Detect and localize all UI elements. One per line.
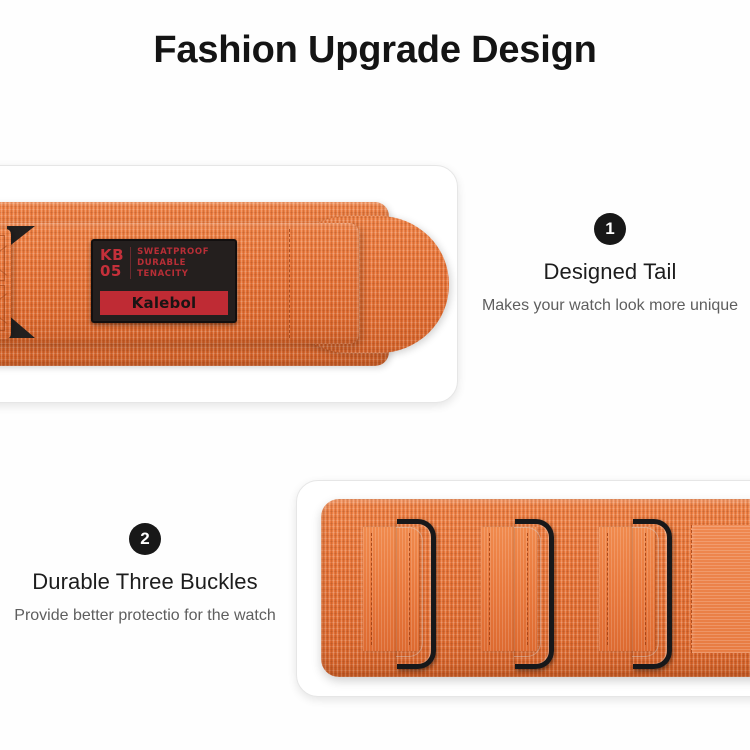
product-brand-label: KB 05 SWEATPROOF DURABLE TENACITY Kalebo… bbox=[91, 239, 237, 323]
label-claim-sweatproof: SWEATPROOF bbox=[137, 247, 209, 258]
label-feature-claims: SWEATPROOF DURABLE TENACITY bbox=[131, 247, 209, 280]
keeper-x-stitch bbox=[0, 293, 7, 329]
label-model-code-line-1: KB bbox=[100, 247, 124, 263]
label-claim-durable: DURABLE bbox=[137, 258, 209, 269]
pad-stitching bbox=[371, 533, 372, 645]
feature-image-card-designed-tail: KB 05 SWEATPROOF DURABLE TENACITY Kalebo… bbox=[0, 165, 458, 403]
keeper-x-stitch bbox=[0, 245, 7, 281]
label-claim-tenacity: TENACITY bbox=[137, 269, 209, 280]
label-top-row: KB 05 SWEATPROOF DURABLE TENACITY bbox=[93, 241, 235, 293]
feature-title-1: Designed Tail bbox=[470, 259, 750, 285]
strap-keeper-loop bbox=[0, 229, 11, 339]
feature-description-2: Provide better protectio for the watch bbox=[0, 604, 290, 627]
metal-buckle-loop-3 bbox=[633, 519, 672, 669]
label-model-code: KB 05 bbox=[100, 247, 131, 279]
metal-buckle-loop-2 bbox=[515, 519, 554, 669]
pad-stitching bbox=[607, 533, 608, 645]
pad-stitching bbox=[489, 533, 490, 645]
strap-velcro-panel bbox=[691, 525, 750, 653]
feature-image-card-three-buckles bbox=[296, 480, 750, 697]
brand-name-text: Kalebol bbox=[132, 294, 197, 312]
metal-buckle-loop-1 bbox=[397, 519, 436, 669]
label-brand-plate: Kalebol bbox=[100, 291, 228, 315]
feature-title-2: Durable Three Buckles bbox=[0, 569, 290, 595]
label-model-code-line-2: 05 bbox=[100, 263, 124, 279]
strap-shadow-wedge-top bbox=[7, 226, 35, 248]
feature-callout-designed-tail: 1 Designed Tail Makes your watch look mo… bbox=[470, 213, 750, 317]
feature-description-1: Makes your watch look more unique bbox=[470, 294, 750, 317]
strap-webbing-band bbox=[321, 499, 750, 677]
strap-seam-stitching bbox=[289, 229, 290, 338]
strap-shadow-wedge-bottom bbox=[7, 314, 35, 338]
feature-callout-durable-buckles: 2 Durable Three Buckles Provide better p… bbox=[0, 523, 290, 627]
feature-number-badge-1: 1 bbox=[594, 213, 626, 245]
feature-number-badge-2: 2 bbox=[129, 523, 161, 555]
page-title: Fashion Upgrade Design bbox=[0, 29, 750, 72]
